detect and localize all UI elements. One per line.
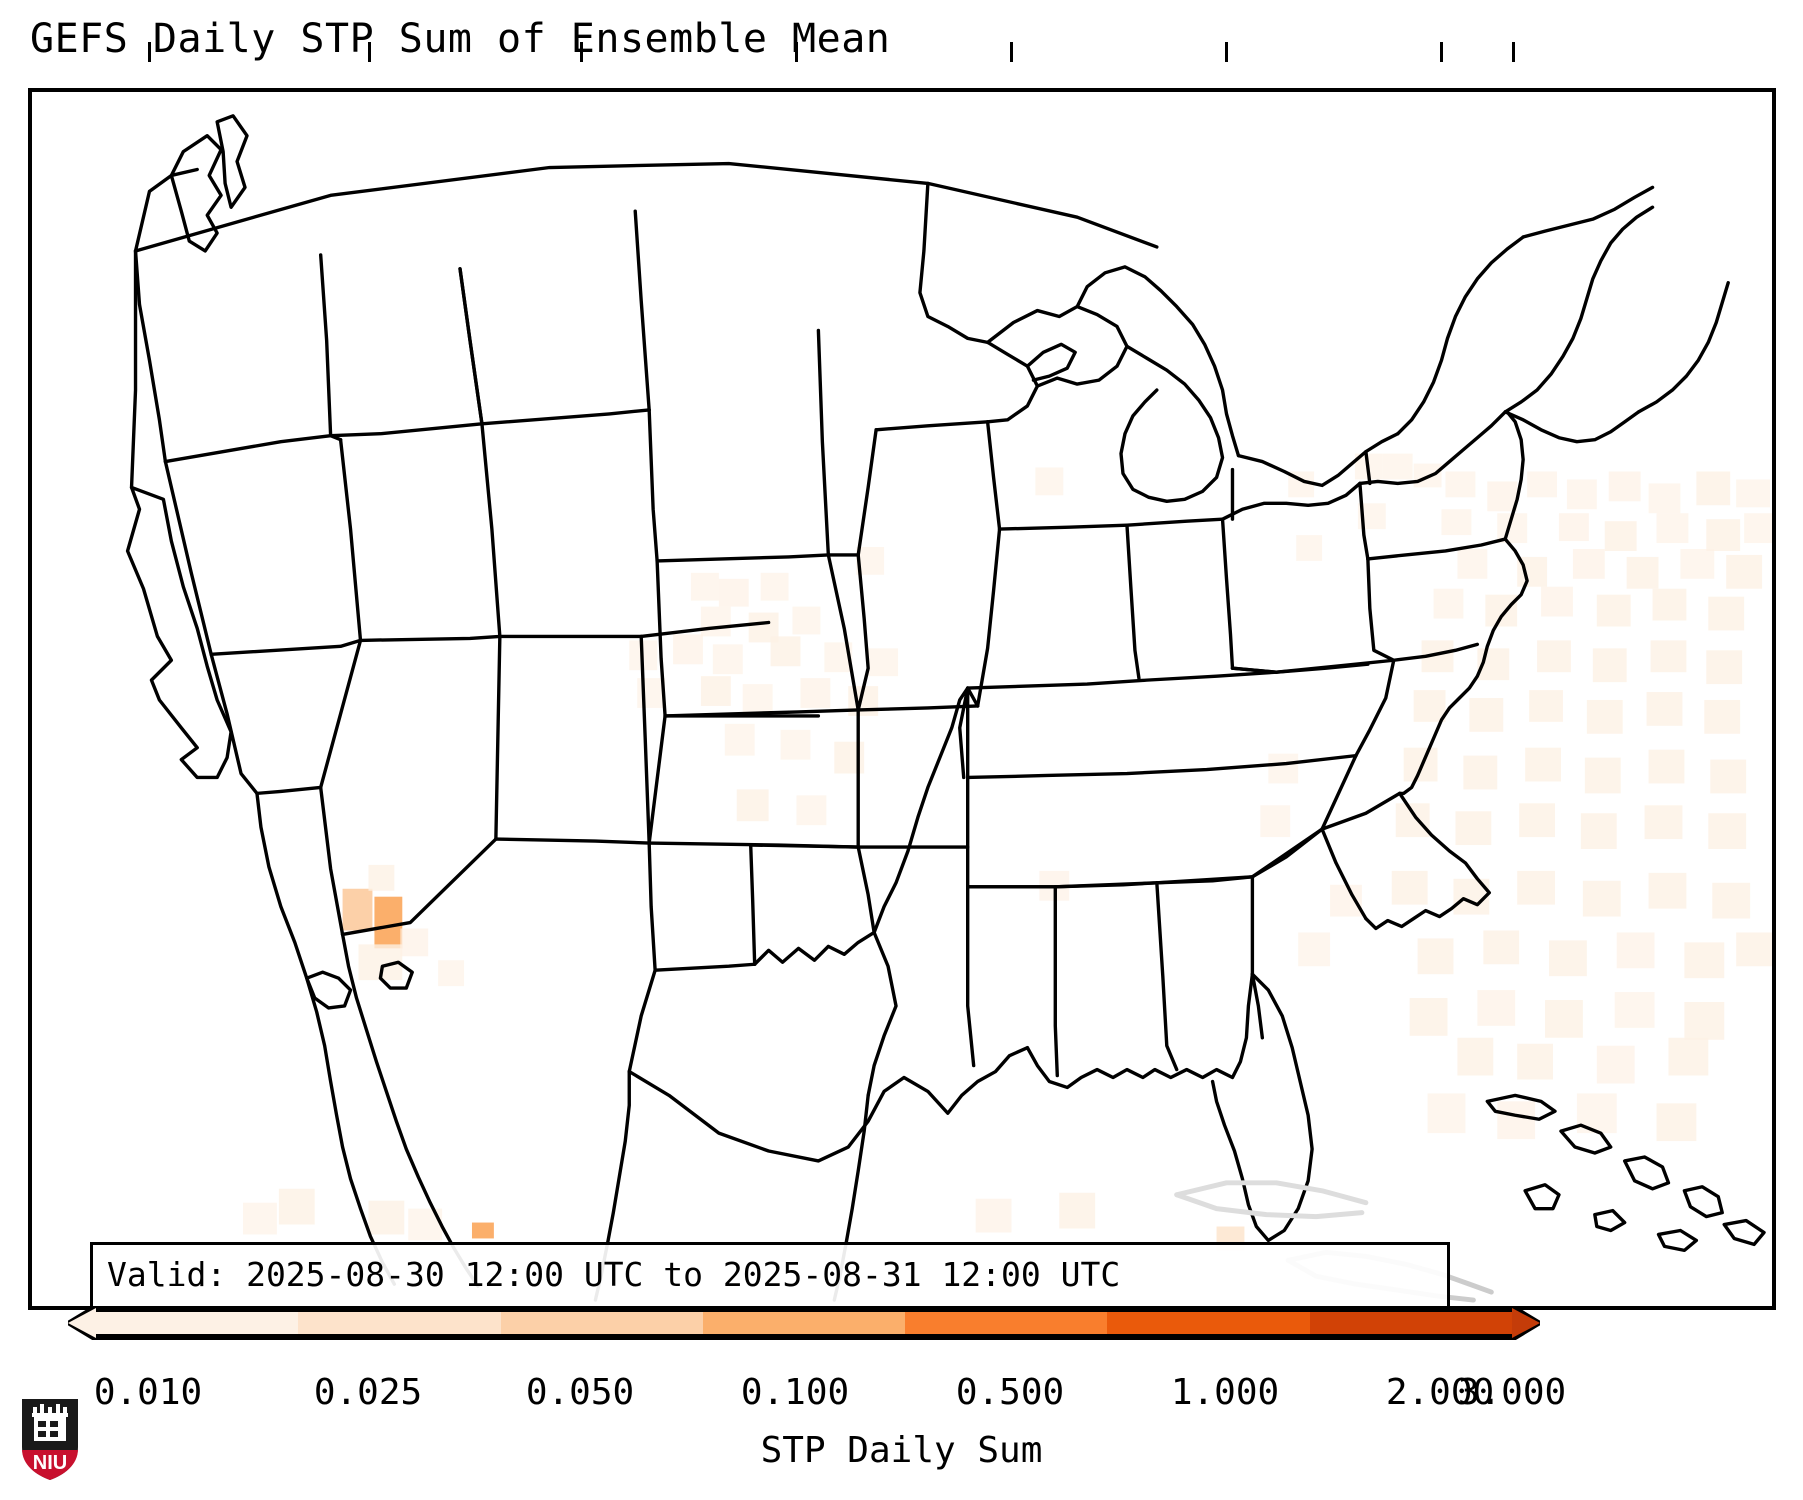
stp-cell xyxy=(1457,1038,1493,1076)
stp-cell xyxy=(1383,454,1413,480)
stp-cell xyxy=(1649,483,1681,513)
stp-cell xyxy=(1649,873,1687,909)
stp-cell xyxy=(1736,932,1772,966)
stp-cell xyxy=(771,636,801,666)
colorbar-tick-5 xyxy=(1225,42,1228,62)
stp-cell xyxy=(1726,555,1762,589)
colorbar-tick-0 xyxy=(148,42,151,62)
stp-cell xyxy=(1268,754,1298,784)
stp-cell xyxy=(793,607,821,635)
colorbar-extend-right xyxy=(1512,1308,1540,1338)
stp-cell xyxy=(1410,998,1448,1036)
stp-cell xyxy=(868,648,898,676)
stp-cell xyxy=(1455,811,1491,845)
stp-cell xyxy=(1529,690,1563,722)
stp-cell xyxy=(976,1199,1012,1233)
colorbar-extend-left xyxy=(68,1308,96,1338)
stp-cell xyxy=(743,684,773,714)
colorbar-tick-label-3: 0.100 xyxy=(741,1372,849,1413)
stp-cell xyxy=(701,607,731,637)
colorbar-bands xyxy=(96,1308,1512,1338)
colorbar-tick-label-7: 3.000 xyxy=(1458,1372,1566,1413)
stp-cell xyxy=(1525,748,1561,782)
stp-cell xyxy=(719,579,749,607)
stp-cell xyxy=(1541,587,1573,617)
colorbar-tick-label-0: 0.010 xyxy=(94,1372,202,1413)
stp-cell xyxy=(1684,1002,1724,1040)
stp-cell xyxy=(1059,1193,1095,1229)
stp-cell xyxy=(1649,750,1685,784)
colorbar-band-5 xyxy=(1107,1312,1309,1334)
stp-cell xyxy=(1517,871,1555,905)
stp-cell xyxy=(1657,513,1689,543)
niu-logo-text: NIU xyxy=(33,1452,67,1474)
valid-time-line: Valid: 2025-08-30 12:00 UTC to 2025-08-3… xyxy=(107,1251,1433,1299)
stp-cell xyxy=(368,1201,404,1235)
stp-cell xyxy=(1617,932,1655,968)
stp-cell xyxy=(1463,756,1497,790)
stp-cell xyxy=(1680,549,1714,579)
stp-cell xyxy=(1035,468,1063,496)
stp-cell xyxy=(1647,692,1683,726)
stp-cell xyxy=(400,928,428,956)
stp-cell xyxy=(800,678,830,708)
stp-cell xyxy=(1483,930,1519,964)
stp-cell xyxy=(1597,595,1631,627)
colorbar-band-0 xyxy=(96,1312,298,1334)
stp-cell xyxy=(1517,1044,1553,1080)
stp-cell xyxy=(1428,1093,1466,1133)
stp-cell xyxy=(1559,513,1589,541)
stp-cell xyxy=(1446,471,1476,497)
stp-cell xyxy=(737,789,769,821)
stp-cell xyxy=(1585,758,1621,794)
stp-cell xyxy=(701,676,731,706)
stp-cell xyxy=(1684,942,1724,978)
colorbar-tick-1 xyxy=(368,42,371,62)
stp-cell xyxy=(1597,1046,1635,1084)
stp-cell xyxy=(1651,640,1687,672)
stp-cell xyxy=(1712,883,1750,919)
stp-cell xyxy=(1744,513,1772,543)
colorbar-band-2 xyxy=(501,1312,703,1334)
stp-cell xyxy=(438,960,464,986)
stp-cell xyxy=(1469,698,1503,732)
stp-cell xyxy=(1581,813,1617,849)
stp-cell xyxy=(673,634,703,664)
stp-cell xyxy=(1704,700,1740,734)
stp-cell xyxy=(1527,471,1557,497)
stp-cell xyxy=(1296,535,1322,561)
stp-cell xyxy=(781,730,811,760)
stp-cell xyxy=(1645,805,1683,839)
colorbar-tick-2 xyxy=(580,42,583,62)
colorbar-band-3 xyxy=(703,1312,905,1334)
stp-cell xyxy=(1668,1038,1708,1076)
stp-cell xyxy=(1615,992,1655,1028)
stp-cell xyxy=(1708,597,1744,631)
stp-cell xyxy=(1696,471,1730,505)
stp-cell xyxy=(1487,481,1517,511)
stp-cell xyxy=(1605,521,1637,551)
stp-cell xyxy=(374,897,402,949)
stp-cell xyxy=(1708,813,1746,849)
colorbar-tick-7 xyxy=(1512,42,1515,62)
stp-cell xyxy=(243,1203,277,1235)
stp-cell xyxy=(1653,589,1687,621)
stp-cell xyxy=(1706,519,1740,551)
stp-cell xyxy=(472,1223,494,1239)
colorbar-band-4 xyxy=(905,1312,1107,1334)
stp-cell xyxy=(1587,700,1623,734)
page-title: GEFS Daily STP Sum of Ensemble Mean xyxy=(30,16,890,62)
colorbar-tick-label-1: 0.025 xyxy=(314,1372,422,1413)
colorbar-tick-label-2: 0.050 xyxy=(526,1372,634,1413)
stp-cell xyxy=(1457,549,1487,579)
stp-cell xyxy=(1477,990,1515,1026)
stp-cell xyxy=(713,644,743,674)
colorbar-band-1 xyxy=(298,1312,500,1334)
stp-cell xyxy=(1545,1000,1583,1038)
stp-cell xyxy=(1706,650,1742,684)
colorbar-tick-6 xyxy=(1440,42,1443,62)
stp-cell xyxy=(796,795,826,825)
map-panel: Valid: 2025-08-30 12:00 UTC to 2025-08-3… xyxy=(28,88,1776,1310)
colorbar-axis-label: STP Daily Sum xyxy=(0,1430,1803,1471)
stp-cell xyxy=(1414,690,1446,722)
colorbar[interactable] xyxy=(0,1300,1803,1360)
colorbar-tick-label-4: 0.500 xyxy=(956,1372,1064,1413)
stp-cell xyxy=(691,573,719,601)
colorbar-tick-label-5: 1.000 xyxy=(1171,1372,1279,1413)
stp-cell xyxy=(1549,940,1587,976)
stp-cell xyxy=(1392,871,1428,905)
stp-cell xyxy=(725,724,755,756)
stp-cell xyxy=(343,889,373,931)
map-canvas xyxy=(32,92,1772,1306)
stp-cell xyxy=(279,1189,315,1225)
stp-cell xyxy=(1736,479,1770,507)
stp-cell xyxy=(1485,595,1517,627)
stp-cell xyxy=(1519,803,1555,837)
stp-cell xyxy=(1710,760,1746,794)
stp-cell xyxy=(1298,932,1330,966)
stp-cell xyxy=(1573,549,1605,579)
stp-cell xyxy=(761,573,789,601)
stp-heatmap-cells xyxy=(243,454,1772,1251)
stp-cell xyxy=(1418,938,1454,974)
niu-logo: NIU xyxy=(18,1395,82,1483)
stp-cell xyxy=(1627,557,1659,589)
stp-cell xyxy=(1442,509,1472,535)
stp-cell xyxy=(1593,648,1627,682)
colorbar-band-6 xyxy=(1310,1312,1512,1334)
stp-cell xyxy=(1396,803,1430,837)
stp-cell xyxy=(1497,1101,1535,1139)
stp-cell xyxy=(1657,1103,1697,1141)
stp-cell xyxy=(1609,471,1641,501)
stp-cell xyxy=(1537,640,1571,672)
stp-cell xyxy=(368,865,394,891)
colorbar-tick-3 xyxy=(795,42,798,62)
stp-cell xyxy=(1260,805,1290,837)
colorbar-tick-4 xyxy=(1010,42,1013,62)
stp-cell xyxy=(1567,479,1597,509)
stp-cell xyxy=(1434,589,1464,619)
stp-cell xyxy=(1583,881,1621,917)
